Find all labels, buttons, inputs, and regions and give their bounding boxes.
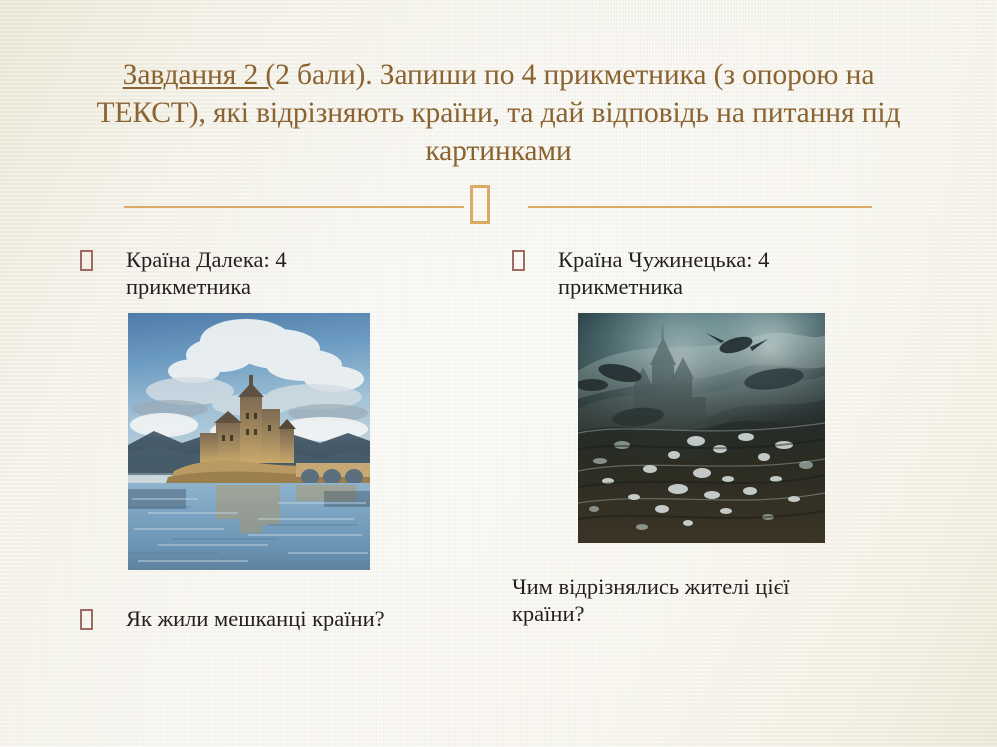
dark-fantasy-city-painting xyxy=(578,313,825,543)
bullet-box-icon xyxy=(80,250,93,271)
left-column-question-row: Як жили мешканці країни? xyxy=(76,605,546,632)
right-column-heading-label: Країна Чужинецька: 4 прикметника xyxy=(558,246,968,300)
right-column-heading-row: Країна Чужинецька: 4 прикметника xyxy=(508,246,968,300)
slide-canvas: Завдання 2 (2 бали). Запиши по 4 прикмет… xyxy=(0,0,997,747)
left-column-heading-row: Країна Далека: 4 прикметника xyxy=(76,246,526,300)
bullet-box-icon xyxy=(512,250,525,271)
bullet-box-icon xyxy=(80,609,93,630)
page-title-underlined: Завдання 2 ( xyxy=(123,59,275,91)
castle-lake-photo-graphic xyxy=(128,313,370,570)
right-column-question-label: Чим відрізнялись жителі цієї країни? xyxy=(512,573,912,627)
dark-fantasy-city-painting-graphic xyxy=(578,313,825,543)
divider-line-right xyxy=(528,206,872,208)
castle-lake-photo xyxy=(128,313,370,570)
divider-line-left xyxy=(124,206,464,208)
wingdings-box-glyph xyxy=(470,185,490,224)
page-title: Завдання 2 (2 бали). Запиши по 4 прикмет… xyxy=(78,56,919,170)
left-column-question-label: Як жили мешканці країни? xyxy=(126,605,546,632)
left-column-heading-label: Країна Далека: 4 прикметника xyxy=(126,246,526,300)
